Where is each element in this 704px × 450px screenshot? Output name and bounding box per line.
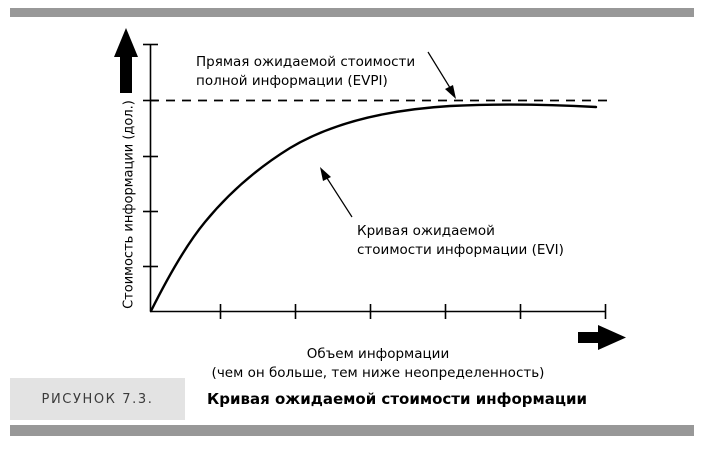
x-axis-label-line1: Объем информации xyxy=(150,345,606,364)
evi-curve xyxy=(151,104,596,311)
y-axis-label: Стоимость информации (дол.) xyxy=(120,75,139,335)
bottom-divider-bar xyxy=(10,425,694,436)
evpi-leader-arrow xyxy=(428,52,456,99)
top-divider-bar xyxy=(10,8,694,17)
evpi-annotation-line1: Прямая ожидаемой стоимости xyxy=(196,53,415,72)
evi-annotation-line2: стоимости информации (EVI) xyxy=(357,241,564,260)
evi-leader-arrow xyxy=(320,167,352,217)
evi-annotation: Кривая ожидаемой стоимости информации (E… xyxy=(357,222,564,260)
evi-annotation-line1: Кривая ожидаемой xyxy=(357,222,564,241)
evpi-annotation-line2: полной информации (EVPI) xyxy=(196,72,415,91)
figure-plot-area: Прямая ожидаемой стоимости полной информ… xyxy=(0,17,704,375)
figure-number-tag: РИСУНОК 7.3. xyxy=(10,378,185,420)
figure-caption: РИСУНОК 7.3. Кривая ожидаемой стоимости … xyxy=(10,378,694,420)
evpi-annotation: Прямая ожидаемой стоимости полной информ… xyxy=(196,53,415,91)
figure-caption-title: Кривая ожидаемой стоимости информации xyxy=(185,378,694,420)
